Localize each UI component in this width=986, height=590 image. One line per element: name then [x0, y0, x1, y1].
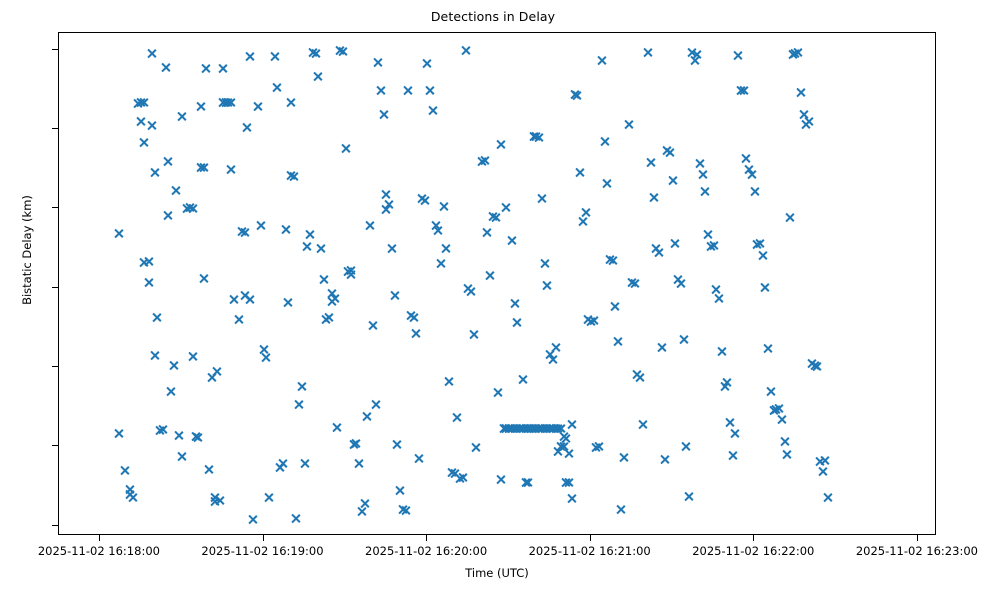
scatter-point — [364, 220, 375, 231]
scatter-point — [509, 298, 520, 309]
scatter-point — [596, 55, 607, 66]
scatter-point — [408, 312, 419, 323]
scatter-point — [703, 229, 714, 240]
scatter-point — [457, 472, 468, 483]
scatter-point — [149, 167, 160, 178]
scatter-point — [771, 404, 782, 415]
scatter-point — [394, 485, 405, 496]
scatter-point — [343, 266, 354, 277]
scatter-point — [468, 329, 479, 340]
scatter-point — [566, 419, 577, 430]
scatter-point — [501, 202, 512, 213]
scatter-point — [400, 505, 411, 516]
scatter-point — [593, 441, 604, 452]
scatter-point — [583, 314, 594, 325]
scatter-point — [225, 97, 236, 108]
scatter-point — [711, 284, 722, 295]
scatter-point — [531, 131, 542, 142]
scatter-point — [542, 280, 553, 291]
scatter-point — [430, 220, 441, 231]
scatter-point — [296, 381, 307, 392]
scatter-point — [553, 423, 564, 434]
scatter-point — [280, 224, 291, 235]
y-axis-label: Bistatic Delay (km) — [20, 100, 34, 400]
scatter-point — [610, 301, 621, 312]
scatter-point — [681, 441, 692, 452]
page-title: Detections in Delay — [0, 9, 986, 24]
scatter-point — [127, 492, 138, 503]
scatter-point — [329, 293, 340, 304]
scatter-point — [580, 207, 591, 218]
y-tick-label: 40 — [0, 201, 50, 213]
scatter-point — [144, 277, 155, 288]
scatter-point — [302, 241, 313, 252]
scatter-point — [146, 120, 157, 131]
scatter-point — [160, 62, 171, 73]
scatter-point — [547, 354, 558, 365]
scatter-point — [814, 456, 825, 467]
scatter-point — [244, 51, 255, 62]
scatter-point — [656, 342, 667, 353]
scatter-point — [697, 169, 708, 180]
scatter-point — [776, 414, 787, 425]
scatter-point — [563, 477, 574, 488]
scatter-point — [820, 455, 831, 466]
scatter-point — [234, 314, 245, 325]
scatter-point — [258, 344, 269, 355]
scatter-point — [733, 50, 744, 61]
scatter-point — [187, 203, 198, 214]
scatter-point — [817, 466, 828, 477]
scatter-point — [176, 451, 187, 462]
scatter-point — [337, 46, 348, 57]
scatter-point — [762, 343, 773, 354]
scatter-point — [378, 109, 389, 120]
scatter-point — [168, 360, 179, 371]
scatter-point — [114, 228, 125, 239]
scatter-point — [735, 85, 746, 96]
scatter-point — [531, 423, 542, 434]
scatter-point — [165, 386, 176, 397]
scatter-point — [512, 317, 523, 328]
scatter-point — [768, 405, 779, 416]
scatter-point — [686, 47, 697, 58]
scatter-point — [623, 119, 634, 130]
scatter-point — [138, 257, 149, 268]
scatter-point — [452, 412, 463, 423]
scatter-point — [722, 377, 733, 388]
scatter-point — [558, 431, 569, 442]
scatter-point — [553, 446, 564, 457]
scatter-point — [566, 493, 577, 504]
scatter-point — [760, 282, 771, 293]
scatter-point — [713, 293, 724, 304]
scatter-point — [749, 186, 760, 197]
scatter-point — [190, 431, 201, 442]
scatter-point — [779, 436, 790, 447]
scatter-point — [812, 361, 823, 372]
x-tick-mark — [426, 535, 427, 541]
scatter-point — [261, 352, 272, 363]
scatter-point — [135, 97, 146, 108]
scatter-point — [512, 423, 523, 434]
scatter-point — [389, 290, 400, 301]
scatter-point — [174, 430, 185, 441]
scatter-point — [539, 423, 550, 434]
scatter-point — [667, 175, 678, 186]
scatter-point — [643, 47, 654, 58]
scatter-point — [673, 274, 684, 285]
scatter-point — [228, 294, 239, 305]
scatter-point — [574, 167, 585, 178]
scatter-point — [236, 226, 247, 237]
scatter-point — [272, 82, 283, 93]
scatter-point — [550, 423, 561, 434]
scatter-point — [506, 423, 517, 434]
scatter-point — [476, 156, 487, 167]
scatter-point — [528, 423, 539, 434]
scatter-point — [523, 423, 534, 434]
scatter-point — [239, 290, 250, 301]
scatter-point — [345, 265, 356, 276]
scatter-point — [482, 227, 493, 238]
scatter-point — [244, 294, 255, 305]
scatter-point — [345, 269, 356, 280]
scatter-point — [547, 423, 558, 434]
scatter-point — [463, 283, 474, 294]
y-tick-label: 30 — [0, 281, 50, 293]
scatter-point — [479, 155, 490, 166]
scatter-point — [520, 423, 531, 434]
scatter-point — [381, 204, 392, 215]
scatter-point — [795, 87, 806, 98]
scatter-point — [163, 210, 174, 221]
scatter-point — [285, 97, 296, 108]
scatter-point — [313, 71, 324, 82]
scatter-point — [441, 243, 452, 254]
scatter-point — [506, 235, 517, 246]
scatter-point — [326, 288, 337, 299]
scatter-point — [653, 247, 664, 258]
scatter-point — [351, 438, 362, 449]
scatter-point — [411, 328, 422, 339]
scatter-point — [561, 477, 572, 488]
scatter-point — [523, 477, 534, 488]
scatter-point — [544, 423, 555, 434]
scatter-point — [555, 441, 566, 452]
scatter-point — [670, 238, 681, 249]
scatter-point — [645, 157, 656, 168]
scatter-point — [386, 243, 397, 254]
scatter-point — [419, 195, 430, 206]
scatter-point — [397, 504, 408, 515]
scatter-point — [114, 428, 125, 439]
scatter-point — [424, 85, 435, 96]
scatter-point — [563, 448, 574, 459]
scatter-point — [220, 97, 231, 108]
scatter-point — [577, 216, 588, 227]
scatter-point — [604, 254, 615, 265]
x-tick-mark — [99, 535, 100, 541]
scatter-point — [822, 492, 833, 503]
scatter-point — [569, 89, 580, 100]
scatter-point — [692, 49, 703, 60]
scatter-point — [517, 423, 528, 434]
scatter-point — [163, 156, 174, 167]
scatter-point — [225, 164, 236, 175]
scatter-point — [798, 109, 809, 120]
scatter-point — [392, 439, 403, 450]
scatter-point — [326, 296, 337, 307]
scatter-point — [214, 495, 225, 506]
scatter-point — [629, 278, 640, 289]
scatter-point — [269, 51, 280, 62]
scatter-point — [727, 450, 738, 461]
scatter-point — [370, 399, 381, 410]
scatter-point — [239, 227, 250, 238]
scatter-point — [754, 238, 765, 249]
scatter-point — [675, 278, 686, 289]
scatter-point — [277, 458, 288, 469]
scatter-point — [433, 225, 444, 236]
scatter-point — [615, 504, 626, 515]
scatter-point — [454, 473, 465, 484]
scatter-point — [435, 258, 446, 269]
x-tick-mark — [753, 535, 754, 541]
scatter-point — [493, 387, 504, 398]
x-tick-mark — [263, 535, 264, 541]
scatter-point — [782, 449, 793, 460]
scatter-point — [752, 239, 763, 250]
scatter-point — [517, 374, 528, 385]
scatter-point — [730, 428, 741, 439]
scatter-point — [154, 425, 165, 436]
scatter-point — [787, 49, 798, 60]
scatter-point — [490, 212, 501, 223]
scatter-point — [618, 452, 629, 463]
scatter-point — [195, 101, 206, 112]
y-tick-label: 10 — [0, 439, 50, 451]
scatter-point — [135, 116, 146, 127]
scatter-point — [716, 346, 727, 357]
scatter-point — [187, 351, 198, 362]
x-tick-label: 2025-11-02 16:23:00 — [817, 545, 986, 558]
scatter-point — [223, 97, 234, 108]
scatter-point — [405, 310, 416, 321]
scatter-point — [291, 513, 302, 524]
scatter-point — [757, 250, 768, 261]
scatter-point — [536, 193, 547, 204]
scatter-point — [784, 212, 795, 223]
scatter-point — [708, 240, 719, 251]
scatter-point — [542, 423, 553, 434]
scatter-point — [460, 45, 471, 56]
scatter-point — [539, 258, 550, 269]
scatter-point — [413, 453, 424, 464]
scatter-point — [602, 178, 613, 189]
scatter-point — [288, 171, 299, 182]
scatter-point — [359, 498, 370, 509]
scatter-point — [514, 423, 525, 434]
scatter-point — [792, 47, 803, 58]
scatter-point — [375, 85, 386, 96]
scatter-point — [356, 506, 367, 517]
scatter-point — [182, 203, 193, 214]
scatter-point — [217, 97, 228, 108]
scatter-point — [193, 432, 204, 443]
scatter-point — [403, 85, 414, 96]
scatter-point — [637, 419, 648, 430]
scatter-point — [255, 220, 266, 231]
scatter-point — [274, 462, 285, 473]
scatter-point — [648, 192, 659, 203]
matplotlib-figure: Detections in Delay Bistatic Delay (km) … — [0, 0, 986, 590]
scatter-point — [662, 145, 673, 156]
scatter-point — [599, 136, 610, 147]
scatter-point — [803, 116, 814, 127]
scatter-point — [572, 90, 583, 101]
scatter-point — [149, 350, 160, 361]
scatter-point — [487, 211, 498, 222]
scatter-point — [607, 255, 618, 266]
scatter-point — [632, 369, 643, 380]
scatter-point — [449, 468, 460, 479]
scatter-point — [304, 229, 315, 240]
scatter-point — [438, 201, 449, 212]
scatter-point — [171, 185, 182, 196]
scatter-point — [664, 147, 675, 158]
scatter-point — [201, 63, 212, 74]
scatter-point — [209, 496, 220, 507]
scatter-point — [719, 381, 730, 392]
scatter-point — [198, 162, 209, 173]
scatter-point — [340, 143, 351, 154]
scatter-point — [206, 372, 217, 383]
y-tick-label: 60 — [0, 43, 50, 55]
scatter-point — [558, 441, 569, 452]
scatter-point — [367, 320, 378, 331]
scatter-point — [550, 342, 561, 353]
scatter-point — [285, 170, 296, 181]
scatter-point — [353, 458, 364, 469]
scatter-point — [741, 153, 752, 164]
scatter-point — [536, 423, 547, 434]
scatter-point — [544, 349, 555, 360]
scatter-point — [138, 97, 149, 108]
scatter-point — [746, 169, 757, 180]
scatter-point — [217, 63, 228, 74]
x-tick-mark — [590, 535, 591, 541]
scatter-point — [561, 433, 572, 444]
scatter-point — [651, 243, 662, 254]
scatter-point — [743, 164, 754, 175]
scatter-point — [446, 467, 457, 478]
scatter-point — [533, 132, 544, 143]
scatter-point — [591, 442, 602, 453]
scatter-point — [144, 256, 155, 267]
scatter-point — [204, 464, 215, 475]
scatter-point — [307, 47, 318, 58]
scatter-point — [373, 57, 384, 68]
scatter-point — [498, 423, 509, 434]
scatter-point — [124, 489, 135, 500]
scatter-point — [283, 297, 294, 308]
scatter-point — [348, 439, 359, 450]
scatter-point — [471, 442, 482, 453]
scatter-point — [422, 58, 433, 69]
scatter-point — [247, 514, 258, 525]
scatter-point — [613, 336, 624, 347]
y-tick-label: 20 — [0, 360, 50, 372]
scatter-point — [253, 101, 264, 112]
scatter-point — [264, 492, 275, 503]
scatter-point — [790, 48, 801, 59]
scatter-point — [683, 491, 694, 502]
scatter-point — [528, 131, 539, 142]
scatter-point — [520, 477, 531, 488]
scatter-point — [525, 423, 536, 434]
scatter-point — [362, 411, 373, 422]
y-tick-label: 0 — [0, 519, 50, 531]
scatter-point — [495, 474, 506, 485]
scatter-point — [678, 334, 689, 345]
scatter-point — [176, 111, 187, 122]
scatter-point — [133, 98, 144, 109]
plot-area — [58, 32, 936, 535]
scatter-point — [809, 360, 820, 371]
scatter-point — [152, 312, 163, 323]
scatter-point — [334, 45, 345, 56]
scatter-point — [700, 186, 711, 197]
scatter-point — [773, 403, 784, 414]
scatter-point — [321, 314, 332, 325]
scatter-point — [659, 454, 670, 465]
x-tick-mark — [917, 535, 918, 541]
scatter-point — [146, 48, 157, 59]
scatter-point — [765, 386, 776, 397]
scatter-point — [634, 372, 645, 383]
scatter-point — [310, 48, 321, 59]
scatter-point — [157, 424, 168, 435]
y-tick-label: 50 — [0, 122, 50, 134]
scatter-point — [242, 122, 253, 133]
scatter-point — [381, 189, 392, 200]
scatter-point — [323, 312, 334, 323]
scatter-point — [332, 422, 343, 433]
scatter-point — [315, 243, 326, 254]
scatter-point — [427, 105, 438, 116]
scatter-point — [585, 316, 596, 327]
scatter-point — [119, 465, 130, 476]
scatter-point — [212, 366, 223, 377]
scatter-point — [555, 423, 566, 434]
scatter-point — [299, 458, 310, 469]
scatter-point — [501, 423, 512, 434]
scatter-point — [318, 274, 329, 285]
scatter-point — [503, 423, 514, 434]
scatter-point — [195, 162, 206, 173]
scatter-point — [294, 399, 305, 410]
scatter-point — [533, 423, 544, 434]
scatter-point — [705, 241, 716, 252]
scatter-point — [588, 315, 599, 326]
scatter-point — [626, 277, 637, 288]
scatter-point — [416, 193, 427, 204]
scatter-point — [694, 158, 705, 169]
scatter-point — [184, 202, 195, 213]
scatter-point — [738, 85, 749, 96]
scatter-point — [806, 358, 817, 369]
